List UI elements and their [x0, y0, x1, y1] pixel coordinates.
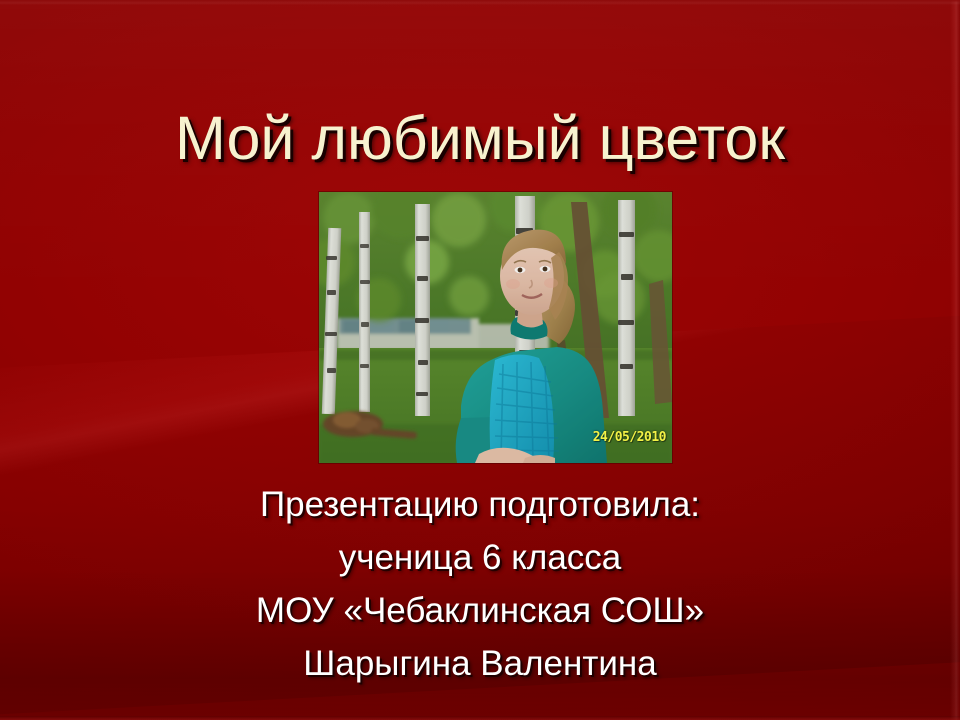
background-top-edge: [0, 0, 960, 5]
presentation-slide: Мой любимый цветок: [0, 0, 960, 720]
photo-illustration: [319, 192, 672, 463]
slide-title: Мой любимый цветок: [0, 108, 960, 169]
body-line-1: Презентацию подготовила:: [0, 478, 960, 531]
body-line-4: Шарыгина Валентина: [0, 637, 960, 690]
slide-body-text: Презентацию подготовила: ученица 6 класс…: [0, 478, 960, 690]
background-bottom-edge: [0, 716, 960, 720]
student-photo: 24/05/2010: [319, 192, 672, 463]
body-line-3: МОУ «Чебаклинская СОШ»: [0, 584, 960, 637]
body-line-2: ученица 6 класса: [0, 531, 960, 584]
photo-datestamp: 24/05/2010: [593, 430, 666, 445]
